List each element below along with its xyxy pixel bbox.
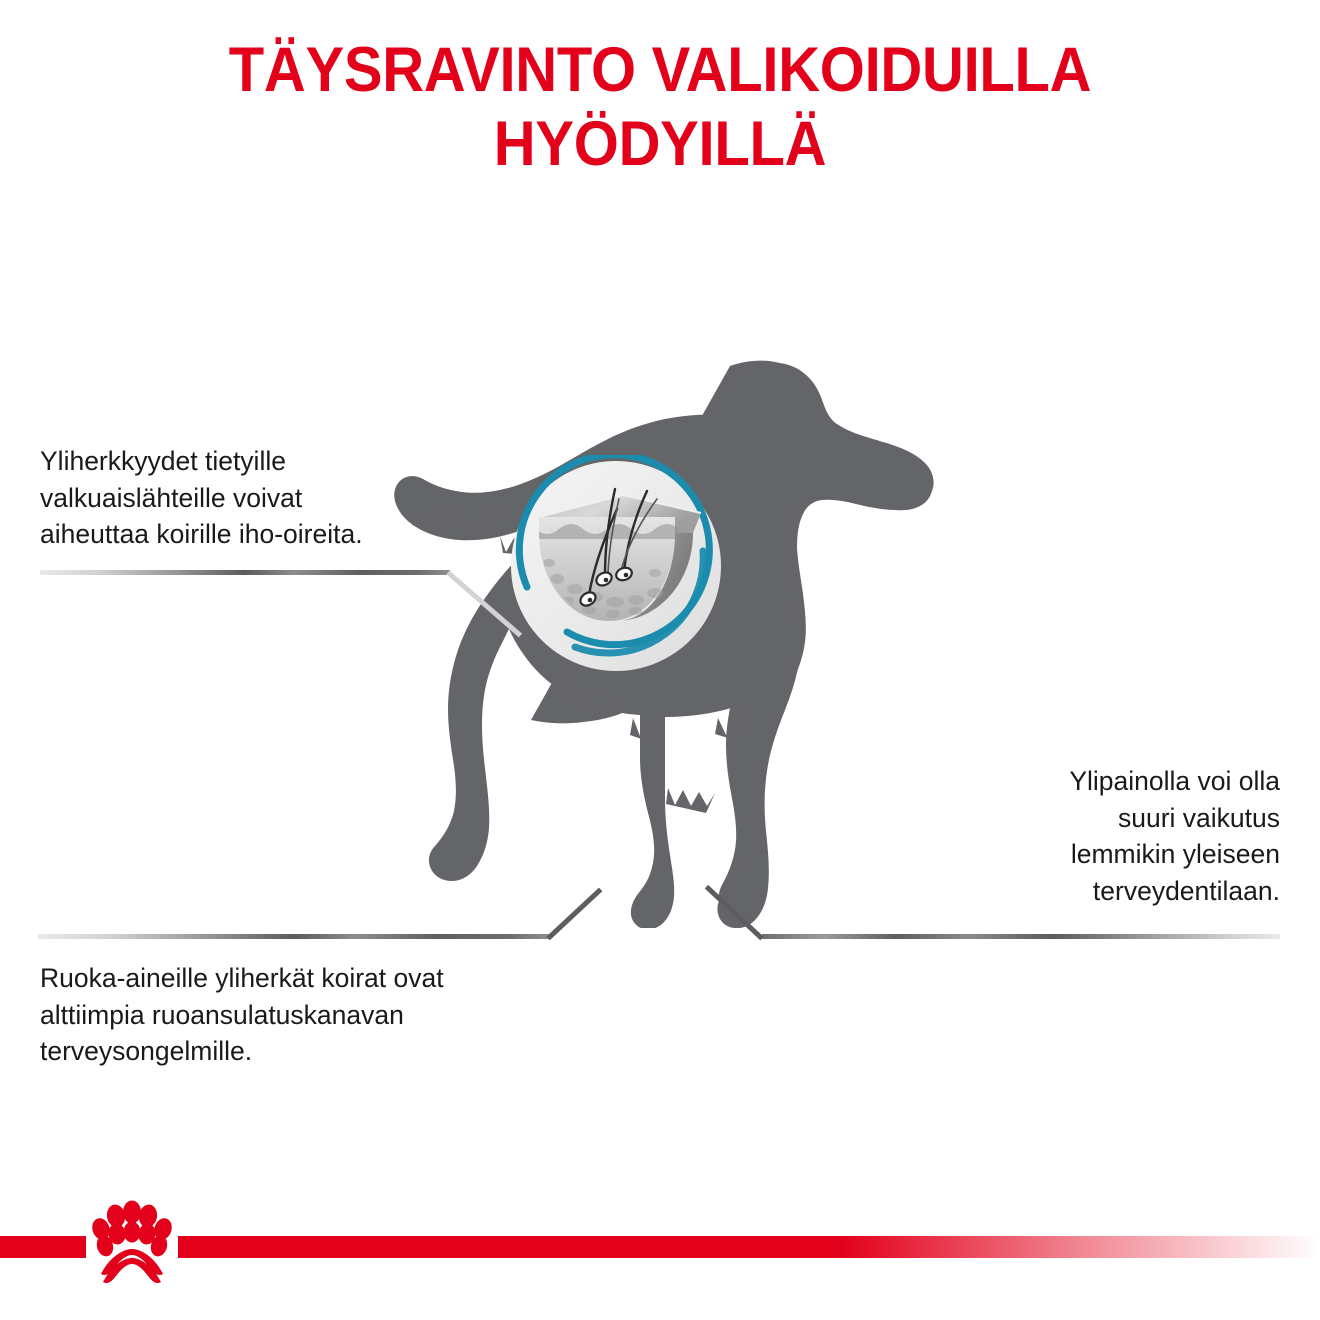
- infographic-page: TÄYSRAVINTO VALIKOIDUILLA HYÖDYILLÄ: [0, 0, 1320, 1320]
- connector-line-skin-horizontal: [40, 570, 450, 575]
- footer-bar-left: [0, 1236, 86, 1258]
- connector-line-digestive-horizontal: [38, 934, 550, 939]
- callout-text-weight: Ylipainolla voi olla suuri vaikutus lemm…: [950, 763, 1280, 909]
- connector-line-weight-horizontal: [762, 934, 1280, 939]
- callout-text-skin: Yliherkkyydet tietyille valkuaislähteill…: [40, 443, 520, 553]
- callout-text-digestive: Ruoka-aineille yliherkät koirat ovat alt…: [40, 960, 640, 1070]
- footer: [0, 1180, 1320, 1320]
- royal-canin-crown-logo-icon: [84, 1196, 180, 1296]
- footer-bar-right: [178, 1236, 1320, 1258]
- page-title: TÄYSRAVINTO VALIKOIDUILLA HYÖDYILLÄ: [154, 34, 1166, 181]
- skin-cross-section-icon: [505, 455, 727, 677]
